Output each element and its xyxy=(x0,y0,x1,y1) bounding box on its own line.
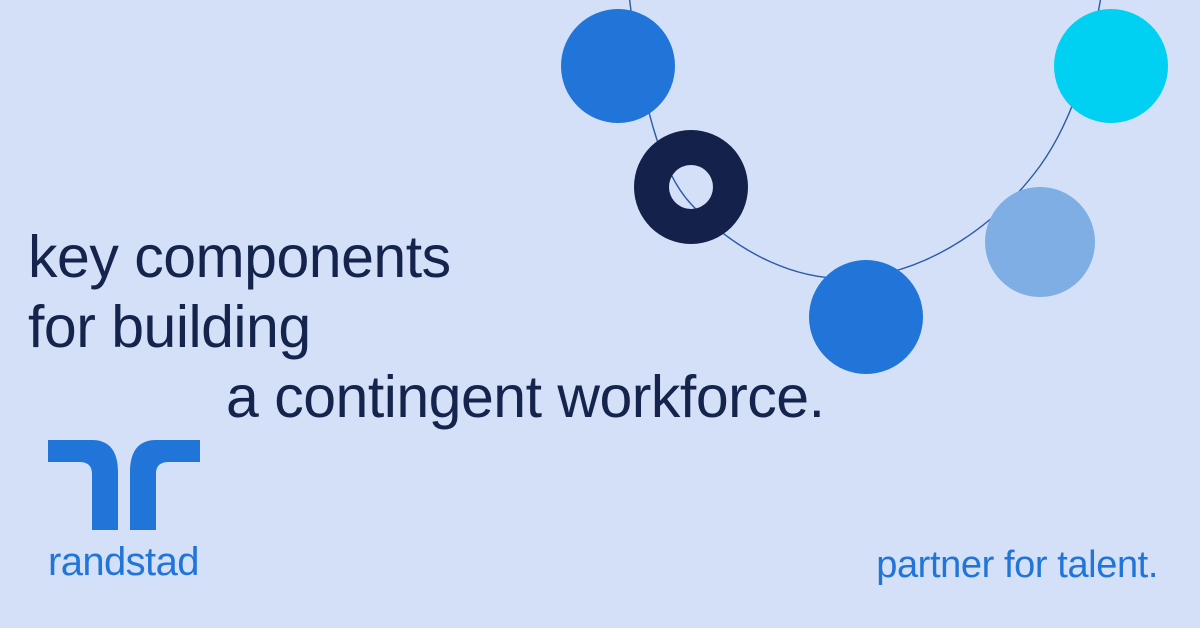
headline-line-3: a contingent workforce. xyxy=(28,362,825,432)
headline-line-1: key components xyxy=(28,222,825,292)
node-blue-center xyxy=(809,260,923,374)
node-lightblue-right xyxy=(985,187,1095,297)
social-card: key components for building a contingent… xyxy=(0,0,1200,628)
randstad-y-mark-icon xyxy=(48,440,200,530)
node-blue-top-left xyxy=(561,9,675,123)
brand-logo-lockup: randstad xyxy=(48,440,308,582)
node-cyan-top-right xyxy=(1054,9,1168,123)
headline: key components for building a contingent… xyxy=(28,222,825,432)
brand-wordmark: randstad xyxy=(48,542,308,582)
headline-line-2: for building xyxy=(28,292,825,362)
brand-tagline: partner for talent. xyxy=(876,545,1158,585)
